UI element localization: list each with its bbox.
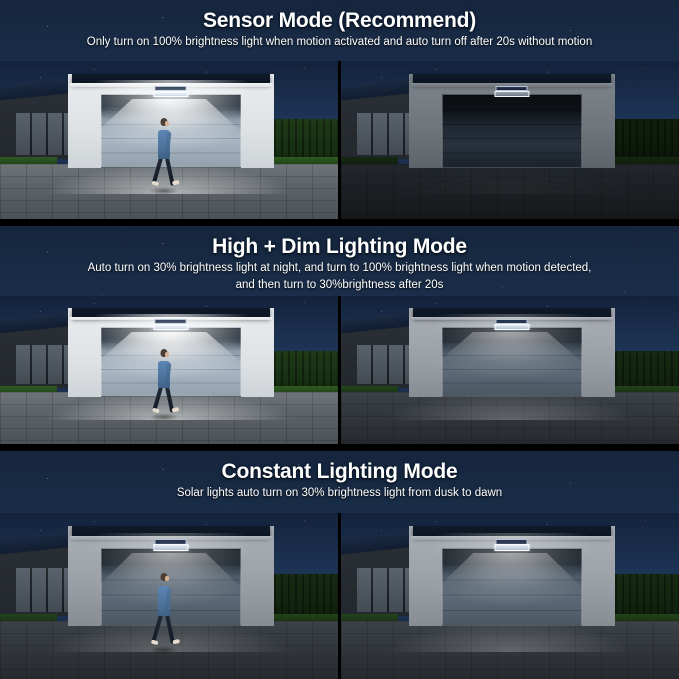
driveway bbox=[341, 621, 679, 679]
person-face bbox=[165, 352, 169, 357]
driveway bbox=[341, 164, 679, 219]
scene-sensor-motion-on bbox=[0, 61, 338, 219]
garage-door bbox=[442, 327, 582, 396]
led-array bbox=[153, 544, 188, 550]
walking-person bbox=[155, 573, 172, 649]
lighting-modes-infographic: Sensor Mode (Recommend) Only turn on 100… bbox=[0, 0, 679, 679]
person-shadow bbox=[149, 187, 180, 195]
garage-door bbox=[442, 94, 582, 168]
scene-pair bbox=[0, 296, 679, 444]
garage-wall bbox=[409, 74, 615, 169]
person-face bbox=[165, 576, 169, 581]
garage-wall bbox=[409, 526, 615, 626]
person-shadow bbox=[149, 413, 180, 421]
panel-sensor-mode: Sensor Mode (Recommend) Only turn on 100… bbox=[0, 0, 679, 219]
solar-light-icon bbox=[494, 319, 529, 331]
scene-constant-no-person bbox=[341, 513, 679, 679]
person-face bbox=[165, 121, 169, 126]
panel-constant-mode: Constant Lighting Mode Solar lights auto… bbox=[0, 451, 679, 679]
solar-light-icon bbox=[494, 86, 529, 98]
scene-constant-with-person bbox=[0, 513, 338, 679]
scene-pair bbox=[0, 513, 679, 679]
solar-light-icon bbox=[153, 86, 188, 98]
led-array bbox=[153, 324, 188, 330]
solar-light-icon bbox=[153, 319, 188, 331]
garage-door bbox=[442, 548, 582, 626]
driveway bbox=[341, 392, 679, 444]
solar-light-icon bbox=[153, 539, 188, 552]
person-shadow bbox=[149, 646, 180, 654]
led-array bbox=[494, 91, 529, 97]
scene-high-dim-idle-dim bbox=[341, 296, 679, 444]
led-array bbox=[153, 91, 188, 97]
scene-sensor-no-motion-off bbox=[341, 61, 679, 219]
panel-gap-1 bbox=[0, 219, 679, 226]
solar-light-icon bbox=[494, 539, 529, 552]
led-array bbox=[494, 324, 529, 330]
scene-pair bbox=[0, 61, 679, 219]
panel-high-dim-mode: High + Dim Lighting Mode Auto turn on 30… bbox=[0, 226, 679, 444]
walking-person bbox=[155, 349, 172, 417]
panel-gap-2 bbox=[0, 444, 679, 451]
walking-person bbox=[155, 118, 172, 191]
garage-wall bbox=[409, 308, 615, 397]
led-array bbox=[494, 544, 529, 550]
scene-high-dim-motion-bright bbox=[0, 296, 338, 444]
